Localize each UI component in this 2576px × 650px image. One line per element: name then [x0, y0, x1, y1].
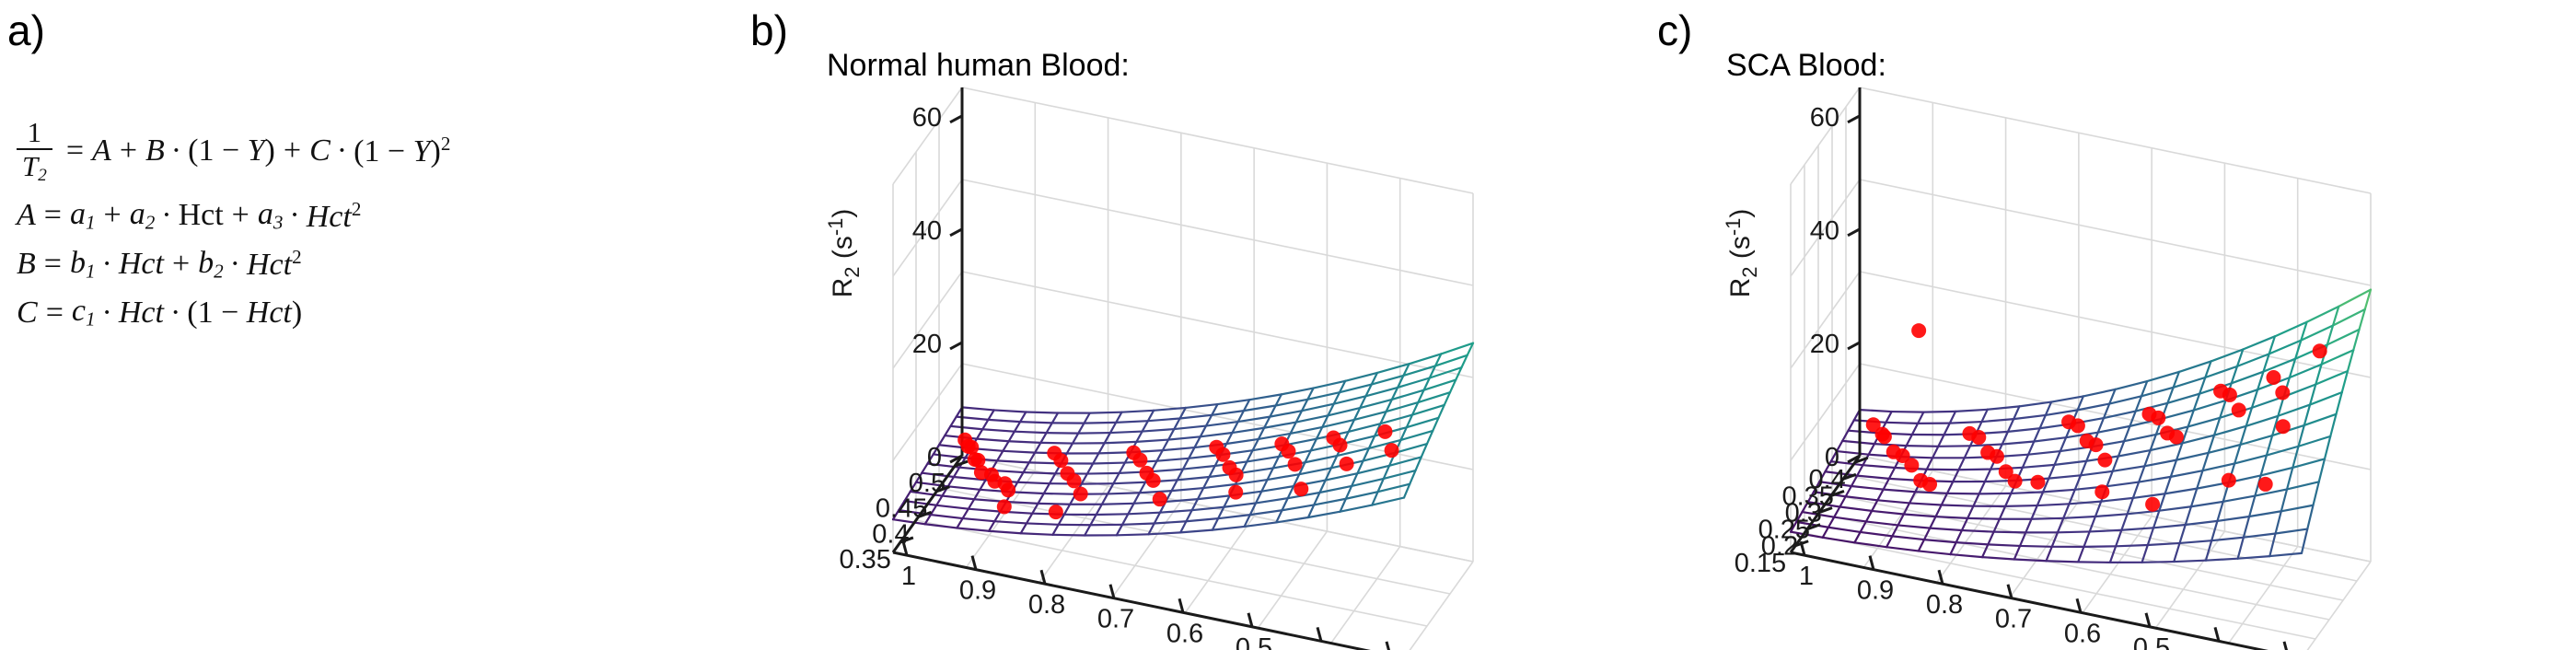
svg-text:R2 (s-1): R2 (s-1) — [824, 209, 864, 298]
data-point — [2145, 497, 2160, 512]
data-point — [2266, 370, 2280, 385]
data-point — [1049, 505, 1063, 519]
plus-sign-1: + — [120, 135, 137, 167]
y-tick-label: 0.6 — [1166, 619, 1203, 648]
z-tick-label: 20 — [1810, 330, 1839, 359]
plus-sign-2: + — [284, 135, 301, 167]
grid-lines — [1791, 87, 2371, 650]
data-point — [1904, 458, 1919, 472]
panel-a-letter: a) — [7, 6, 45, 55]
data-point — [1922, 477, 1937, 492]
y-tick-label: 1 — [1799, 562, 1814, 591]
group-1-minus-Y-a: (1 − Y) — [188, 135, 275, 167]
y-tick-label: 0.9 — [959, 576, 996, 606]
z-tick-label: 60 — [912, 103, 942, 133]
y-tick-label: 0.8 — [1926, 590, 1963, 620]
data-point — [2089, 437, 2104, 452]
data-point — [1215, 447, 1230, 462]
data-point — [1385, 443, 1399, 458]
data-point — [997, 499, 1012, 514]
data-point — [1001, 482, 1015, 497]
panel-b-letter: b) — [750, 6, 788, 55]
data-point — [2232, 402, 2246, 417]
grid-lines — [893, 87, 1473, 650]
y-tick-label: 0.7 — [1097, 605, 1134, 634]
data-point — [1229, 468, 1244, 482]
data-point — [1294, 482, 1308, 496]
data-point — [1146, 473, 1161, 488]
data-point — [2094, 484, 2109, 499]
data-point — [1333, 438, 1348, 453]
fraction-numerator: 1 — [22, 118, 48, 148]
data-point — [1053, 453, 1068, 468]
fraction-one-over-t2: 1 T2 — [17, 118, 52, 184]
equation-A: A= a1+ a2· Hct+ a3· Hct2 — [17, 199, 412, 233]
x-tick-label: 0.35 — [839, 545, 890, 575]
group-1-minus-Y-squared: (1 − Y)2 — [354, 134, 450, 168]
fraction-denominator: T2 — [17, 148, 52, 184]
data-point — [1153, 492, 1167, 506]
panel-c-letter: c) — [1657, 6, 1692, 55]
z-tick-label: 40 — [912, 216, 942, 246]
y-tick-label: 0.7 — [1995, 605, 2032, 634]
cdot-1: · — [171, 135, 181, 167]
data-point — [1377, 424, 1392, 439]
equation-block: 1 T2 = A + B · (1 − Y) + C · (1 − Y)2 A=… — [17, 118, 412, 344]
axis-text: 02040600.50.450.40.3510.90.80.70.60.50.4… — [810, 103, 1410, 650]
data-point — [1288, 457, 1303, 471]
axes-3d: 02040600.50.450.40.3510.90.80.70.60.50.4… — [810, 0, 1602, 650]
y-tick-label: 0.9 — [1857, 576, 1894, 606]
data-point — [1073, 486, 1088, 501]
equals-sign: = — [66, 135, 84, 167]
z-axis-label: R2 (s-1) — [1722, 209, 1761, 298]
equation-C: C= c1· Hct· (1 − Hct) — [17, 296, 412, 330]
data-point — [1228, 485, 1243, 500]
data-point — [2097, 453, 2112, 468]
data-point — [2313, 343, 2327, 358]
axes-3d: 02040600.40.350.30.250.20.1510.90.80.70.… — [1708, 0, 2500, 650]
data-point — [1132, 453, 1147, 468]
x-tick-label: 0.15 — [1735, 549, 1786, 578]
surface-mesh — [893, 343, 1473, 536]
plot-c-sca-blood: 02040600.40.350.30.250.20.1510.90.80.70.… — [1708, 0, 2500, 650]
data-point — [2008, 474, 2023, 489]
cdot-2: · — [337, 135, 347, 167]
equation-B: B= b1· Hct+ b2· Hct2 — [17, 248, 412, 282]
svg-text:R2 (s-1): R2 (s-1) — [1722, 209, 1761, 298]
data-point — [1971, 430, 1986, 445]
data-point — [2030, 475, 2045, 490]
z-tick-label: 40 — [1810, 216, 1839, 246]
y-tick-label: 0.5 — [1236, 633, 1272, 650]
data-point — [1067, 473, 1082, 488]
data-point — [1877, 429, 1892, 444]
equation-t2: 1 T2 = A + B · (1 − Y) + C · (1 − Y)2 — [17, 118, 412, 184]
data-point — [1281, 444, 1295, 458]
z-tick-label: 20 — [912, 330, 942, 359]
y-tick-label: 0.6 — [2064, 619, 2101, 648]
plot-b-normal-blood: 02040600.50.450.40.3510.90.80.70.60.50.4… — [810, 0, 1602, 650]
term-C: C — [309, 135, 331, 167]
axis-text: 02040600.40.350.30.250.20.1510.90.80.70.… — [1708, 103, 2308, 650]
data-point — [2276, 419, 2291, 434]
group-1-minus-Hct: (1 − Hct) — [187, 297, 302, 329]
y-tick-label: 0.8 — [1028, 590, 1065, 620]
data-point — [1340, 457, 1354, 471]
z-axis-label: R2 (s-1) — [824, 209, 864, 298]
data-point — [2222, 473, 2236, 488]
term-A: A — [92, 135, 111, 167]
data-point — [2275, 386, 2290, 400]
data-point — [2151, 411, 2165, 425]
data-point — [1990, 449, 2004, 464]
data-point — [2258, 477, 2273, 492]
data-point — [2169, 430, 2184, 445]
data-point — [2222, 388, 2237, 402]
term-B: B — [145, 135, 165, 167]
y-tick-label: 1 — [901, 562, 916, 591]
data-point — [2071, 418, 2085, 433]
data-point — [1911, 323, 1926, 338]
z-tick-label: 60 — [1810, 103, 1839, 133]
y-tick-label: 0.5 — [2133, 633, 2170, 650]
